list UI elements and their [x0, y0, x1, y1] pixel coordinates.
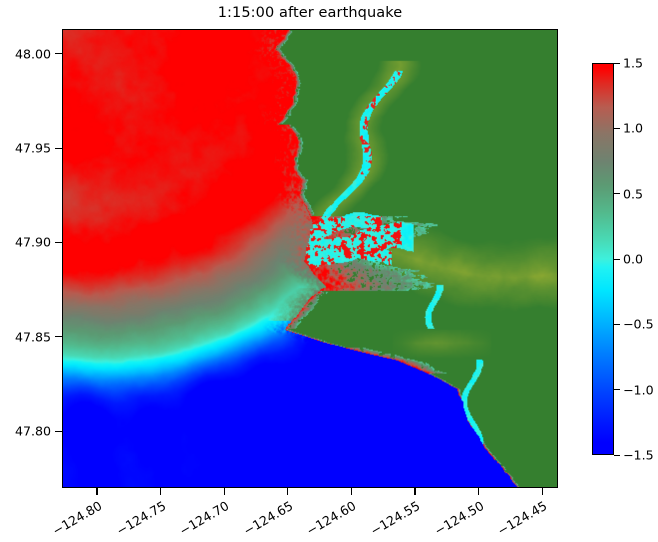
x-tick-mark [160, 488, 161, 495]
y-tick-mark [55, 148, 62, 149]
x-tick-mark [224, 488, 225, 495]
y-tick-mark [55, 53, 62, 54]
colorbar-tick-mark [614, 455, 620, 456]
colorbar-tick-label: −1.5 [623, 448, 654, 463]
y-tick-mark [55, 242, 62, 243]
x-tick-mark [287, 488, 288, 495]
colorbar-tick-label: 0.5 [623, 186, 643, 201]
plot-title: 1:15:00 after earthquake [62, 5, 558, 21]
x-tick-label: −124.75 [107, 498, 168, 542]
x-tick-label: −124.45 [488, 498, 549, 542]
x-tick-mark [414, 488, 415, 495]
x-tick-label: −124.65 [234, 498, 295, 542]
x-tick-mark [351, 488, 352, 495]
colorbar-tick-label: −0.5 [623, 317, 654, 332]
x-tick-label: −124.80 [43, 498, 104, 542]
y-tick-label: 47.80 [0, 424, 51, 439]
x-tick-label: −124.50 [425, 498, 486, 542]
colorbar-tick-label: 1.5 [623, 56, 643, 71]
y-tick-mark [55, 336, 62, 337]
x-tick-label: −124.70 [170, 498, 231, 542]
tsunami-elevation-heatmap [63, 30, 557, 487]
colorbar-tick-label: 0.0 [623, 252, 643, 267]
colorbar-tick-mark [614, 128, 620, 129]
x-tick-mark [542, 488, 543, 495]
matplotlib-figure: 1:15:00 after earthquake 48.0047.9547.90… [0, 0, 658, 540]
y-tick-label: 47.95 [0, 141, 51, 156]
y-tick-label: 47.90 [0, 235, 51, 250]
y-tick-label: 47.85 [0, 329, 51, 344]
colorbar-tick-mark [614, 259, 620, 260]
colorbar-tick-label: 1.0 [623, 121, 643, 136]
colorbar-gradient [592, 63, 614, 455]
colorbar-tick-mark [614, 63, 620, 64]
map-axes[interactable] [62, 29, 558, 488]
x-tick-label: −124.60 [298, 498, 359, 542]
y-tick-label: 48.00 [0, 46, 51, 61]
colorbar-tick-label: −1.0 [623, 382, 654, 397]
y-tick-mark [55, 431, 62, 432]
colorbar-tick-mark [614, 193, 620, 194]
x-tick-label: −124.55 [361, 498, 422, 542]
x-tick-mark [96, 488, 97, 495]
x-tick-mark [478, 488, 479, 495]
colorbar-tick-mark [614, 324, 620, 325]
colorbar[interactable] [592, 63, 614, 455]
colorbar-tick-mark [614, 389, 620, 390]
